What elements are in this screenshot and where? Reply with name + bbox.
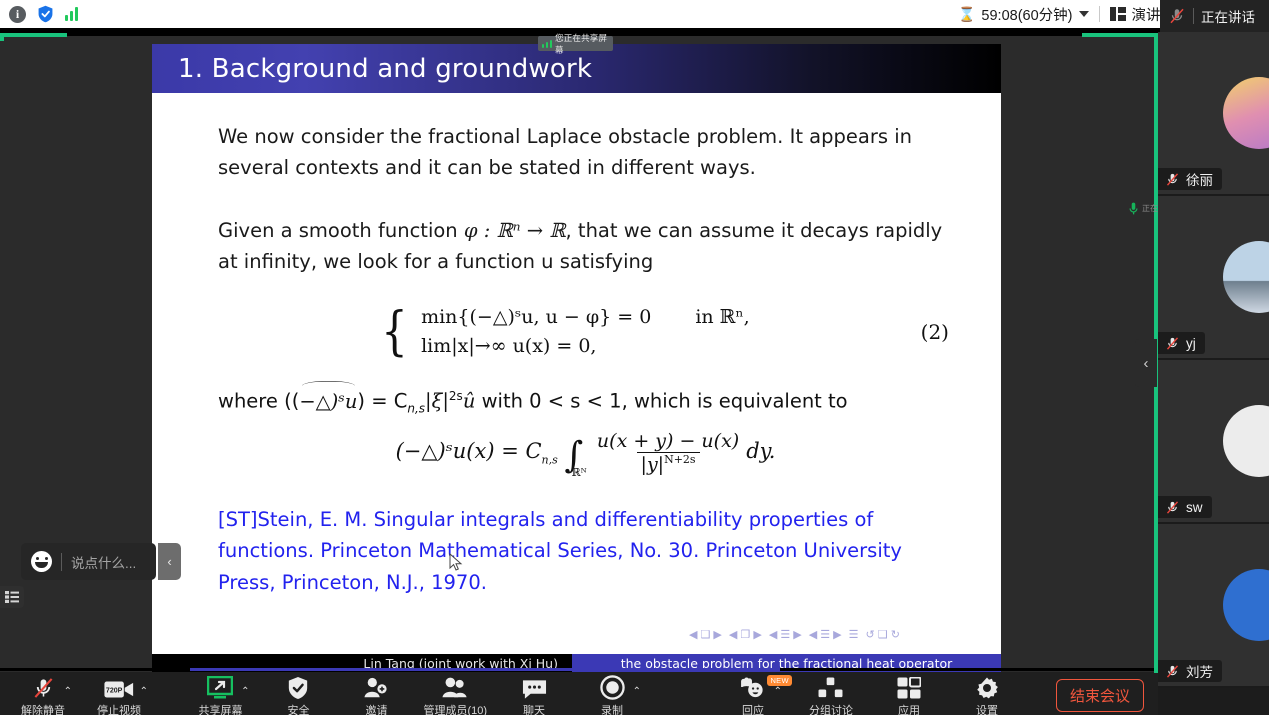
slide-paragraph-1: We now consider the fractional Laplace o… xyxy=(218,121,953,183)
chat-input-box[interactable]: 说点什么... xyxy=(21,543,156,580)
chevron-down-icon[interactable] xyxy=(1079,11,1089,17)
chevron-up-icon[interactable]: ⌃ xyxy=(774,686,782,697)
fraction-denominator: |y|N+2s xyxy=(637,452,700,475)
meeting-timer-label: 59:08(60分钟) xyxy=(981,4,1072,25)
participant-name: 徐丽 xyxy=(1186,169,1213,189)
equation-2-tag: (2) xyxy=(921,320,949,344)
slide-body: We now consider the fractional Laplace o… xyxy=(152,93,1001,598)
avatar xyxy=(1223,569,1269,641)
equation-2-line-2: lim|x|→∞ u(x) = 0, xyxy=(421,332,750,361)
slide-title: 1. Background and groundwork xyxy=(152,54,592,84)
participant-name: sw xyxy=(1186,500,1203,515)
chat-button[interactable]: 聊天 xyxy=(503,672,565,715)
participant-nameplate: 刘芳 xyxy=(1158,660,1222,682)
speaking-indicator: 正在讲话 xyxy=(1160,0,1269,32)
participant-nameplate: yj xyxy=(1158,332,1205,354)
where-uhat: û xyxy=(463,390,476,413)
share-border-right xyxy=(1082,33,1158,37)
where-tail: with 0 < s < 1, which is equivalent to xyxy=(475,390,847,413)
avatar xyxy=(1223,405,1269,477)
where-exp: 2s xyxy=(449,389,463,403)
integral-equation: (−△)ˢu(x) = Cn,s ∫ℝᴺ u(x + y) − u(x) |y|… xyxy=(218,430,953,475)
chevron-up-icon[interactable]: ⌃ xyxy=(241,686,249,697)
top-bar: i ⌛ 59:08(60分钟) 演讲者视图 xyxy=(0,0,1269,28)
unmute-label: 解除静音 xyxy=(21,702,65,715)
denominator-exponent: N+2s xyxy=(664,453,696,466)
mic-muted-icon xyxy=(32,676,55,700)
screen-sharing-badge: 您正在共享屏幕 xyxy=(538,36,613,51)
hourglass-icon: ⌛ xyxy=(958,6,975,23)
settings-label: 设置 xyxy=(976,702,998,715)
chevron-up-icon[interactable]: ⌃ xyxy=(64,686,72,697)
slide-paragraph-2: Given a smooth function φ : ℝⁿ → ℝ, that… xyxy=(218,215,953,277)
reactions-label: 回应 xyxy=(742,702,764,715)
equation-2-block: { min{(−△)ˢu, u − φ} = 0in ℝⁿ, lim|x|→∞ … xyxy=(218,303,953,361)
share-screen-button[interactable]: 共享屏幕 ⌃ xyxy=(189,672,251,715)
manage-participants-label: 管理成员(10) xyxy=(423,702,487,715)
reactions-icon xyxy=(739,676,766,700)
integral-tail: dy. xyxy=(746,440,775,464)
share-screen-label: 共享屏幕 xyxy=(198,702,242,715)
avatar xyxy=(1223,241,1269,313)
toolbar-left-group: 解除静音 ⌃ 720P 停止视频 ⌃ xyxy=(0,672,150,715)
zoom-meeting-window: i ⌛ 59:08(60分钟) 演讲者视图 xyxy=(0,0,1269,715)
beamer-navigation-symbols[interactable]: ◀ ❑ ▶ ◀ ❐ ▶ ◀ ☰ ▶ ◀ ☰ ▶ ☰ ↺ ❑ ↻ xyxy=(689,627,989,641)
invite-person-icon xyxy=(364,676,388,700)
nav-symbol-slide[interactable]: ◀ ❑ ▶ xyxy=(689,628,722,641)
breakout-rooms-button[interactable]: 分组讨论 xyxy=(800,672,862,715)
paragraph-2-pre: Given a smooth function xyxy=(218,219,458,242)
equation-2-domain: in ℝⁿ, xyxy=(695,306,749,328)
signal-bars-icon xyxy=(65,7,78,21)
nav-symbol-subsection[interactable]: ◀ ☰ ▶ xyxy=(769,628,802,641)
equation-2-lines: min{(−△)ˢu, u − φ} = 0in ℝⁿ, lim|x|→∞ u(… xyxy=(421,303,750,361)
paragraph-2-math: φ : ℝⁿ → ℝ xyxy=(464,219,566,242)
strip-blue xyxy=(190,668,780,671)
mic-muted-icon xyxy=(1165,500,1180,515)
settings-button[interactable]: 设置 xyxy=(956,672,1018,715)
participant-tile[interactable]: 徐丽 xyxy=(1158,32,1269,196)
chat-bubble-icon xyxy=(522,678,547,700)
speaking-label: 正在讲话 xyxy=(1201,6,1255,26)
chat-collapse-button[interactable]: ‹ xyxy=(158,543,181,580)
gear-icon xyxy=(975,676,999,700)
apps-grid-icon xyxy=(897,677,921,700)
chat-label: 聊天 xyxy=(523,702,545,715)
security-button[interactable]: 安全 xyxy=(267,672,329,715)
new-badge: NEW xyxy=(767,675,791,686)
apps-button[interactable]: 应用 xyxy=(878,672,940,715)
integral-lhs: (−△)ˢu(x) = C xyxy=(396,440,542,464)
equation-brace: { xyxy=(381,310,407,354)
share-screen-icon xyxy=(207,676,233,700)
signal-bars-icon xyxy=(542,40,552,48)
integral-sign-icon: ∫ℝᴺ xyxy=(564,435,583,476)
meeting-timer[interactable]: ⌛ 59:08(60分钟) xyxy=(948,0,1099,28)
end-meeting-button[interactable]: 结束会议 xyxy=(1056,679,1144,712)
security-label: 安全 xyxy=(287,702,309,715)
integral-domain: ℝᴺ xyxy=(571,466,586,479)
emoji-face-icon[interactable] xyxy=(31,551,52,572)
mic-muted-icon xyxy=(1165,664,1180,679)
avatar xyxy=(1223,77,1269,149)
chat-input-placeholder[interactable]: 说点什么... xyxy=(71,552,136,572)
shared-slide: 1. Background and groundwork We now cons… xyxy=(152,44,1001,672)
record-button[interactable]: 录制 ⌃ xyxy=(581,672,643,715)
speaker-view-icon xyxy=(1110,7,1126,21)
integral-lhs-sub: n,s xyxy=(542,454,558,467)
participant-name: yj xyxy=(1186,336,1196,351)
breakout-rooms-icon xyxy=(818,677,843,700)
invite-label: 邀请 xyxy=(365,702,387,715)
mouse-cursor xyxy=(449,553,463,572)
stop-video-label: 停止视频 xyxy=(97,702,141,715)
where-xi: |ξ| xyxy=(425,390,449,413)
mic-muted-icon xyxy=(1165,172,1180,187)
panel-list-icon[interactable] xyxy=(0,586,24,608)
top-bar-status-icons: i xyxy=(0,5,78,23)
participant-tile[interactable]: sw xyxy=(1158,360,1269,524)
video-720p-icon: 720P xyxy=(104,679,134,700)
mic-muted-icon xyxy=(1168,7,1186,25)
strip-black-right xyxy=(780,668,1158,671)
divider xyxy=(61,553,62,571)
mini-speaking-label: 正在 xyxy=(1142,203,1158,214)
screen-sharing-label: 您正在共享屏幕 xyxy=(555,32,613,56)
svg-text:720P: 720P xyxy=(106,688,123,695)
mini-speaking-indicator: 正在 xyxy=(1129,202,1158,215)
where-hat-expr: −△)ˢu xyxy=(299,386,357,417)
citation-reference[interactable]: [ST]Stein, E. M. Singular integrals and … xyxy=(218,504,953,599)
where-post: ) = C xyxy=(357,390,407,413)
shield-check-icon xyxy=(287,676,309,700)
unmute-button[interactable]: 解除静音 ⌃ xyxy=(12,672,74,715)
participant-tile[interactable]: 刘芳 xyxy=(1158,524,1269,688)
chat-input-overlay: 说点什么... ‹ xyxy=(21,543,181,580)
info-icon[interactable]: i xyxy=(9,6,26,23)
share-border-left xyxy=(0,33,67,37)
toolbar-right-group: NEW 回应 ⌃ 分组讨论 xyxy=(722,672,1158,715)
sidebar-collapse-button[interactable]: ‹ xyxy=(1135,339,1157,387)
where-line: where ((−△)ˢu) = Cn,s|ξ|2sû with 0 < s <… xyxy=(218,381,953,424)
apps-label: 应用 xyxy=(898,702,920,715)
nav-symbol-section[interactable]: ◀ ☰ ▶ xyxy=(809,628,842,641)
mic-muted-icon xyxy=(1165,336,1180,351)
stop-video-button[interactable]: 720P 停止视频 ⌃ xyxy=(88,672,150,715)
record-label: 录制 xyxy=(601,702,623,715)
where-sub: n,s xyxy=(407,401,425,415)
participants-icon xyxy=(442,676,468,700)
shield-check-icon[interactable] xyxy=(37,5,54,23)
nav-symbol-back-find-forward[interactable]: ↺ ❑ ↻ xyxy=(866,628,900,641)
toolbar-center-group: 共享屏幕 ⌃ 安全 xyxy=(189,672,643,715)
strip-black-left xyxy=(0,668,190,671)
participant-nameplate: 徐丽 xyxy=(1158,168,1222,190)
nav-symbol-frame[interactable]: ◀ ❐ ▶ xyxy=(729,628,762,641)
nav-symbol-doc[interactable]: ☰ xyxy=(849,628,859,641)
meeting-toolbar: 解除静音 ⌃ 720P 停止视频 ⌃ xyxy=(0,672,1158,715)
breakout-rooms-label: 分组讨论 xyxy=(809,702,853,715)
chevron-up-icon[interactable]: ⌃ xyxy=(140,686,148,697)
record-icon xyxy=(600,675,625,700)
reactions-button[interactable]: NEW 回应 ⌃ xyxy=(722,672,784,715)
participant-nameplate: sw xyxy=(1158,496,1212,518)
mic-active-icon xyxy=(1129,202,1138,215)
participants-sidebar: 徐丽 yj sw xyxy=(1158,32,1269,687)
invite-button[interactable]: 邀请 xyxy=(345,672,407,715)
fraction-numerator: u(x + y) − u(x) xyxy=(593,430,743,452)
top-black-band xyxy=(0,28,1269,36)
where-pre: where (( xyxy=(218,390,299,413)
chevron-up-icon[interactable]: ⌃ xyxy=(633,686,641,697)
share-border-left-vertical xyxy=(0,33,4,41)
manage-participants-button[interactable]: 管理成员(10) xyxy=(423,672,487,715)
integral-fraction: u(x + y) − u(x) |y|N+2s xyxy=(593,430,743,475)
equation-2-line-1: min{(−△)ˢu, u − φ} = 0 xyxy=(421,306,651,328)
participant-tile[interactable]: yj xyxy=(1158,196,1269,360)
participant-name: 刘芳 xyxy=(1186,661,1213,681)
divider xyxy=(1193,8,1194,24)
